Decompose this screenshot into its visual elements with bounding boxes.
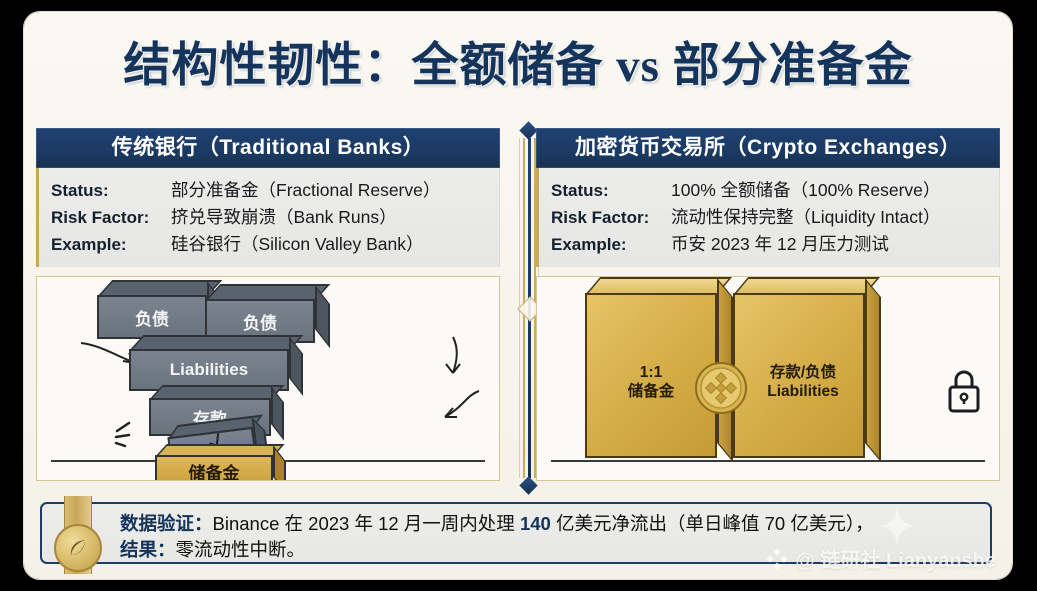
panel-info-left: Status: 部分准备金（Fractional Reserve） Risk F…: [36, 168, 500, 267]
panel-header-left: 传统银行（Traditional Banks）: [36, 128, 500, 168]
info-key: Status:: [551, 181, 671, 201]
info-value: 100% 全额储备（100% Reserve）: [671, 177, 940, 202]
lock-icon: [945, 365, 983, 413]
info-value: 部分准备金（Fractional Reserve）: [171, 177, 440, 202]
illustration-balanced-gold-slabs: 1:1 储备金 存款/负债 Liabilities: [536, 276, 1000, 481]
info-key: Status:: [51, 181, 171, 201]
block-side-face: [271, 386, 284, 441]
block-side-face: [315, 285, 330, 348]
footer-result-text: 零流动性中断。: [176, 539, 306, 560]
arrow-icon: [437, 333, 469, 381]
footer-line-2: 结果：零流动性中断。: [120, 537, 980, 563]
impact-spark-icon: [99, 419, 133, 453]
info-value: 币安 2023 年 12 月压力测试: [671, 231, 889, 256]
footer-text: 数据验证：Binance 在 2023 年 12 月一周内处理 140 亿美元净…: [120, 511, 980, 564]
slab-label-liabilities: 存款/负债 Liabilities: [737, 363, 869, 402]
leaf-icon: [67, 537, 89, 559]
slide-root: 结构性韧性：全额储备 vs 部分准备金 传统银行（Traditional Ban…: [0, 0, 1037, 591]
slab-label-line: Liabilities: [737, 382, 869, 401]
diamond-finial-bottom-icon: [519, 476, 537, 494]
info-value: 挤兑导致崩溃（Bank Runs）: [171, 204, 397, 229]
footer-line-1: 数据验证：Binance 在 2023 年 12 月一周内处理 140 亿美元净…: [120, 511, 980, 537]
info-key: Risk Factor:: [551, 208, 671, 228]
diamond-finial-top-icon: [519, 121, 537, 139]
block-liability-1: 负债: [97, 295, 207, 339]
block-label: 储备金: [155, 455, 273, 481]
block-side-face: [289, 336, 303, 396]
footer-label-result: 结果：: [120, 539, 176, 560]
panel-info-right: Status: 100% 全额储备（100% Reserve） Risk Fac…: [536, 168, 1000, 267]
verification-seal-badge: [54, 524, 102, 572]
info-value: 流动性保持完整（Liquidity Intact）: [671, 204, 940, 229]
info-row: Example: 硅谷银行（Silicon Valley Bank）: [51, 231, 493, 256]
info-row: Status: 100% 全额储备（100% Reserve）: [551, 177, 993, 202]
panel-crypto-exchanges: 加密货币交易所（Crypto Exchanges） Status: 100% 全…: [536, 128, 1000, 481]
illustration-collapsing-blocks: 负债 负债 Liabilities 存款: [36, 276, 500, 481]
block-side-face: [273, 445, 286, 481]
footer-text-b: 亿美元净流出（单日峰值 70 亿美元），: [551, 513, 874, 534]
info-row: Risk Factor: 挤兑导致崩溃（Bank Runs）: [51, 204, 493, 229]
slab-label-line: 存款/负债: [737, 363, 869, 382]
panel-traditional-banks: 传统银行（Traditional Banks） Status: 部分准备金（Fr…: [36, 128, 500, 481]
footer-callout: 数据验证：Binance 在 2023 年 12 月一周内处理 140 亿美元净…: [40, 502, 992, 564]
footer-text-a: Binance 在 2023 年 12 月一周内处理: [213, 513, 520, 534]
info-row: Status: 部分准备金（Fractional Reserve）: [51, 177, 493, 202]
binance-coin-icon: [694, 361, 748, 415]
info-row: Risk Factor: 流动性保持完整（Liquidity Intact）: [551, 204, 993, 229]
ground-line: [551, 460, 985, 462]
arrow-icon: [411, 387, 483, 429]
info-row: Example: 币安 2023 年 12 月压力测试: [551, 231, 993, 256]
info-key: Risk Factor:: [51, 208, 171, 228]
info-key: Example:: [51, 235, 171, 255]
footer-label-verification: 数据验证：: [120, 513, 213, 534]
footer-highlight-number: 140: [520, 513, 551, 534]
panel-header-right: 加密货币交易所（Crypto Exchanges）: [536, 128, 1000, 168]
info-key: Example:: [551, 235, 671, 255]
slide-card: 结构性韧性：全额储备 vs 部分准备金 传统银行（Traditional Ban…: [24, 12, 1012, 579]
page-title: 结构性韧性：全额储备 vs 部分准备金: [24, 26, 1012, 95]
info-value: 硅谷银行（Silicon Valley Bank）: [171, 231, 424, 256]
block-reserve-base: 储备金: [155, 455, 273, 481]
block-label: 负债: [97, 295, 207, 339]
